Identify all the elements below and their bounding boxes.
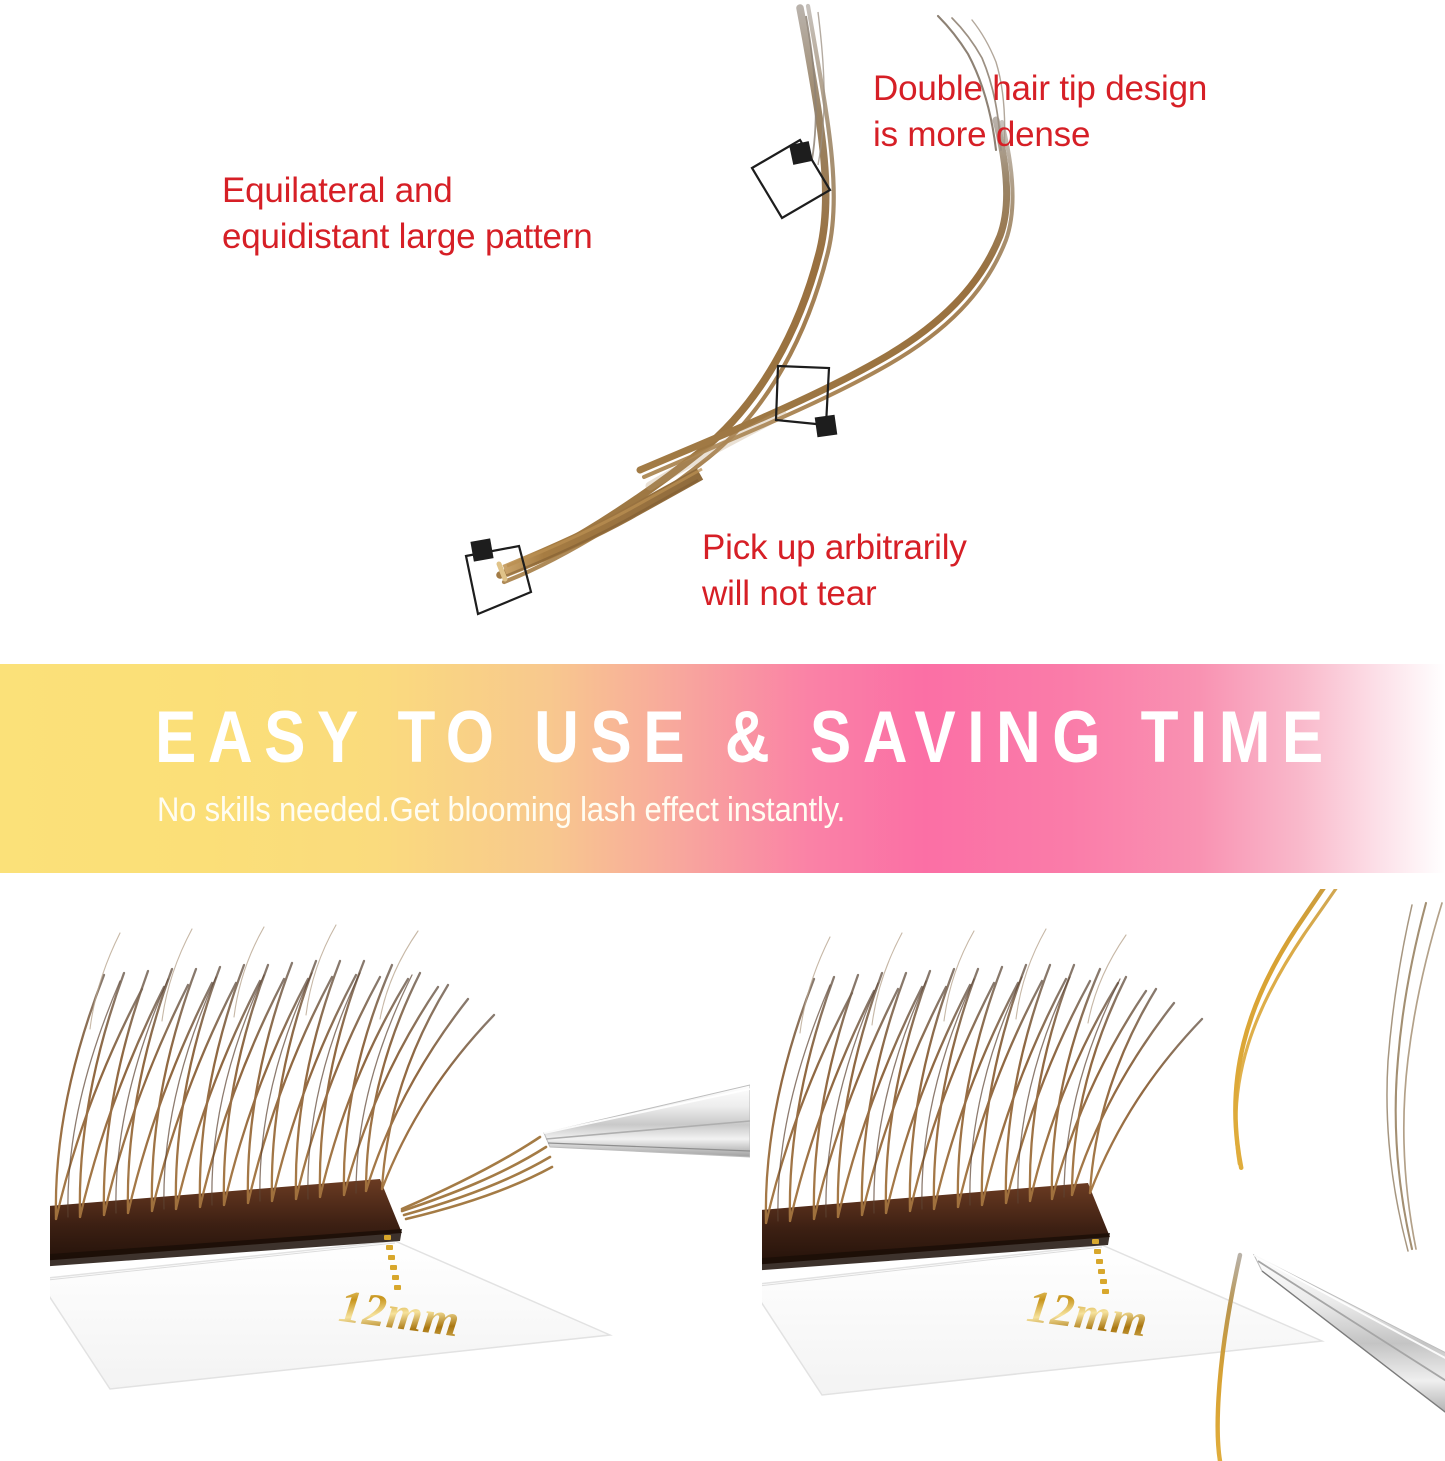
- callout-equilateral-text: Equilateral and equidistant large patter…: [222, 168, 593, 259]
- fiber-soft-shadow: [650, 414, 782, 486]
- lash-fans: [56, 925, 494, 1219]
- lash-tray-with-picked-fan-photo: [762, 889, 1445, 1461]
- lash-card: [50, 1241, 610, 1389]
- callout-pick-up-text: Pick up arbitrarily will not tear: [702, 525, 967, 616]
- tweezer: [544, 1085, 750, 1157]
- lash-fiber-diagram-section: Equilateral and equidistant large patter…: [0, 0, 1445, 664]
- fiber-base-ribbon: [499, 469, 702, 579]
- easy-to-use-banner: EASY TO USE & SAVING TIME No skills need…: [0, 664, 1445, 873]
- banner-title: EASY TO USE & SAVING TIME: [155, 702, 1335, 775]
- callout-double-hair-tip-text: Double hair tip design is more dense: [873, 66, 1207, 157]
- lash-fans: [766, 929, 1202, 1223]
- square-callout-marker-tip: [752, 140, 830, 218]
- lash-tray-with-tweezer-photo: [50, 889, 750, 1461]
- lash-fan-picked: [402, 1137, 552, 1219]
- square-callout-marker-mid: [776, 366, 837, 437]
- banner-subtitle: No skills needed.Get blooming lash effec…: [157, 792, 845, 827]
- product-photo-row: [0, 873, 1445, 1445]
